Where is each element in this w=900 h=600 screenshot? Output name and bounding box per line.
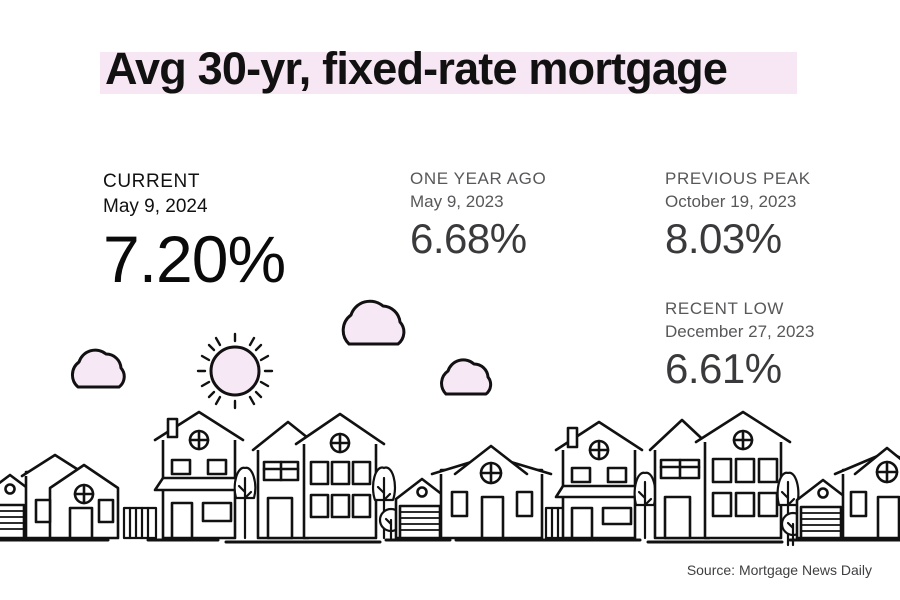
house-3 — [253, 414, 384, 538]
stat-value-previous-peak: 8.03% — [665, 214, 811, 264]
fence-a — [124, 508, 156, 538]
cloud-small-right-icon — [442, 360, 491, 394]
stat-block-current: CURRENT May 9, 2024 7.20% — [103, 170, 285, 296]
stat-value-recent-low: 6.61% — [665, 344, 814, 394]
stat-date-one-year-ago: May 9, 2023 — [410, 190, 546, 213]
house-7 — [835, 448, 900, 538]
cloud-small-left-icon — [72, 350, 124, 387]
house-2 — [155, 412, 243, 538]
stat-block-previous-peak: PREVIOUS PEAK October 19, 2023 8.03% — [665, 168, 811, 264]
house-garage-3 — [797, 480, 849, 538]
stat-value-current: 7.20% — [103, 222, 285, 296]
stat-label-previous-peak: PREVIOUS PEAK — [665, 168, 811, 190]
title-block: Avg 30-yr, fixed-rate mortgage — [0, 38, 900, 100]
tree-1 — [235, 468, 256, 538]
stat-date-previous-peak: October 19, 2023 — [665, 190, 811, 213]
stat-block-recent-low: RECENT LOW December 27, 2023 6.61% — [665, 298, 814, 394]
cloud-medium-icon — [343, 301, 404, 344]
sun-icon — [198, 334, 272, 408]
stat-block-one-year-ago: ONE YEAR AGO May 9, 2023 6.68% — [410, 168, 546, 264]
house-1 — [22, 455, 118, 538]
stat-label-current: CURRENT — [103, 170, 285, 194]
tree-3 — [635, 473, 656, 538]
stat-value-one-year-ago: 6.68% — [410, 214, 546, 264]
house-5 — [556, 422, 642, 538]
stat-date-current: May 9, 2024 — [103, 194, 285, 220]
house-6 — [650, 412, 790, 538]
source-attribution: Source: Mortgage News Daily — [687, 562, 872, 578]
stat-label-one-year-ago: ONE YEAR AGO — [410, 168, 546, 190]
stat-label-recent-low: RECENT LOW — [665, 298, 814, 320]
page-title: Avg 30-yr, fixed-rate mortgage — [105, 38, 727, 100]
stat-date-recent-low: December 27, 2023 — [665, 320, 814, 343]
house-4 — [432, 446, 551, 538]
infographic-canvas: Avg 30-yr, fixed-rate mortgage CURRENT M… — [0, 0, 900, 600]
ground-line — [0, 540, 900, 542]
